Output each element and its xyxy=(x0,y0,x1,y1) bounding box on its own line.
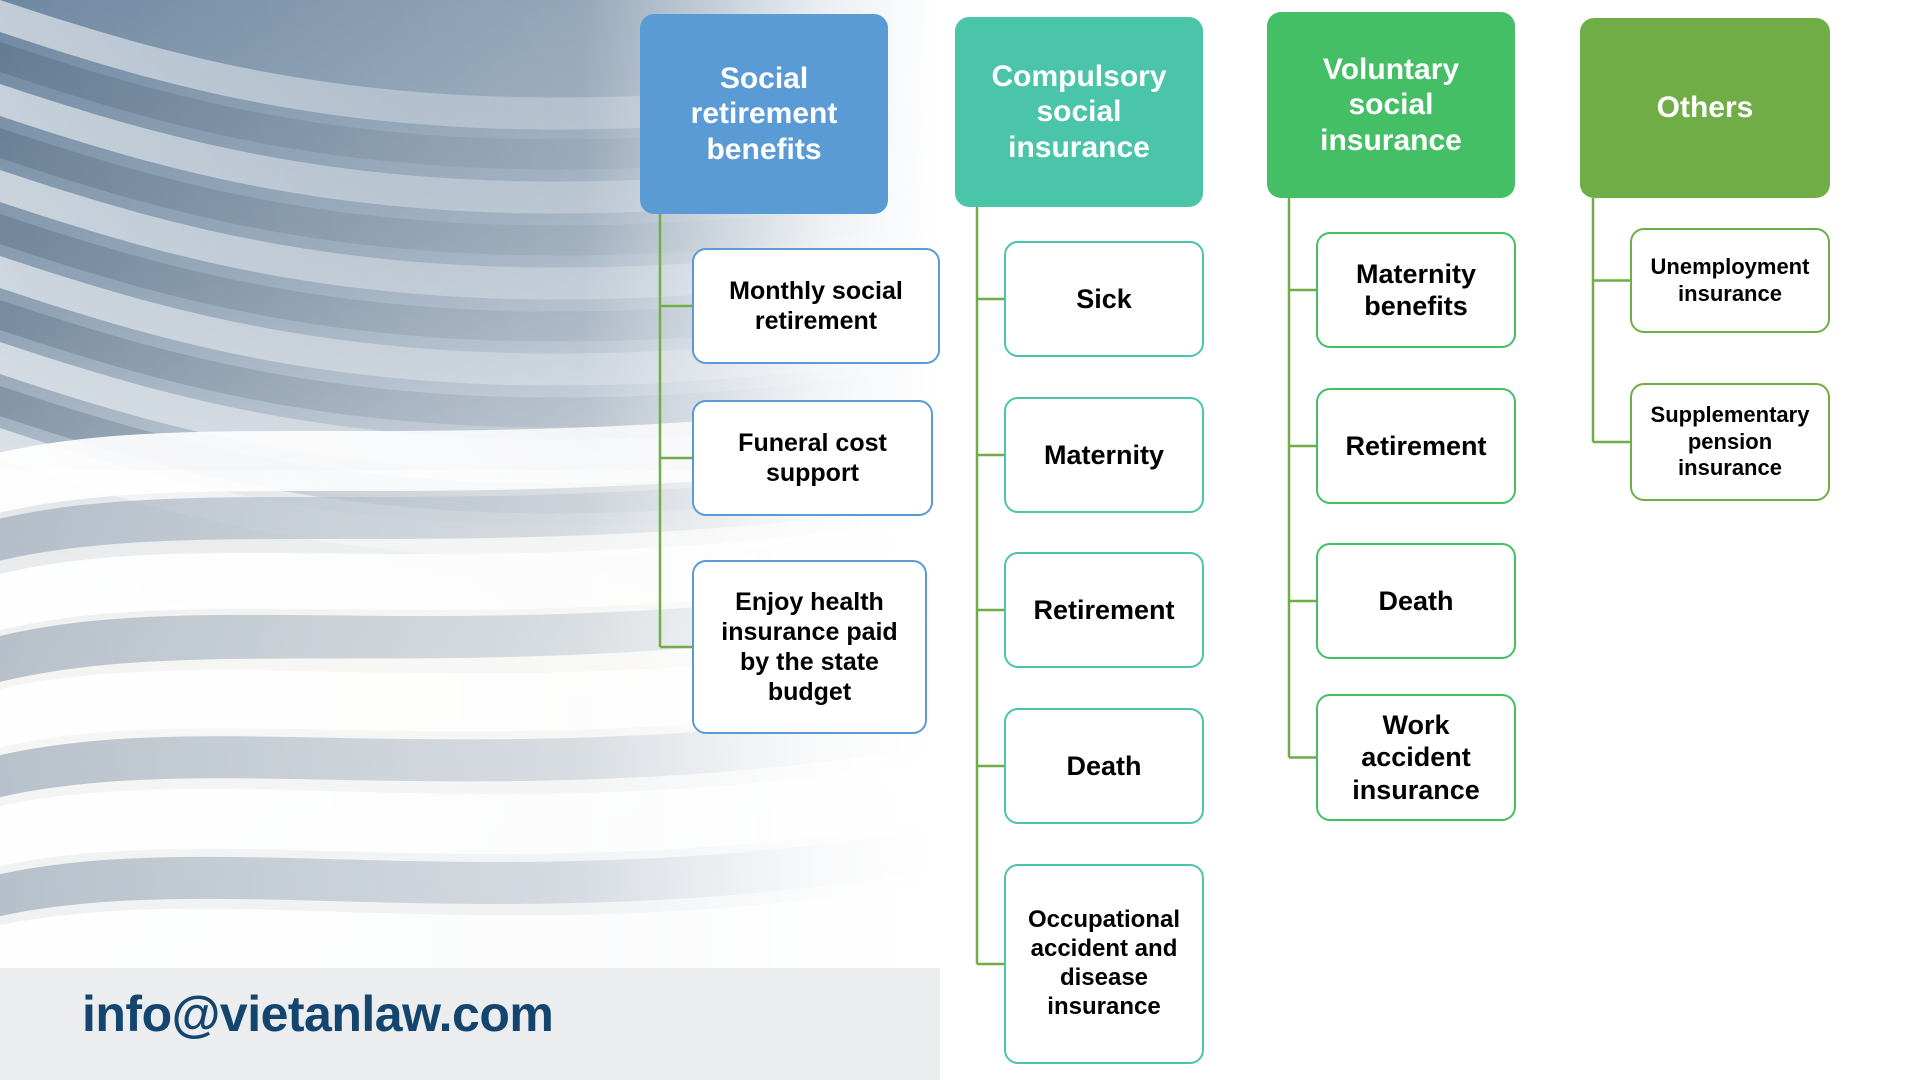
child-box-compulsory-social-insurance-0[interactable]: Sick xyxy=(1004,241,1204,357)
child-box-voluntary-social-insurance-2[interactable]: Death xyxy=(1316,543,1516,659)
contact-email: info@vietanlaw.com xyxy=(82,985,553,1043)
child-box-voluntary-social-insurance-0[interactable]: Maternity benefits xyxy=(1316,232,1516,348)
child-box-social-retirement-benefits-1[interactable]: Funeral cost support xyxy=(692,400,933,516)
child-box-compulsory-social-insurance-2[interactable]: Retirement xyxy=(1004,552,1204,668)
slide-canvas: info@vietanlaw.com Social retirement ben… xyxy=(0,0,1920,1080)
child-box-social-retirement-benefits-2[interactable]: Enjoy health insurance paid by the state… xyxy=(692,560,927,734)
child-box-compulsory-social-insurance-1[interactable]: Maternity xyxy=(1004,397,1204,513)
child-box-voluntary-social-insurance-1[interactable]: Retirement xyxy=(1316,388,1516,504)
child-box-compulsory-social-insurance-4[interactable]: Occupational accident and disease insura… xyxy=(1004,864,1204,1064)
header-box-voluntary-social-insurance[interactable]: Voluntary social insurance xyxy=(1267,12,1515,198)
child-box-social-retirement-benefits-0[interactable]: Monthly social retirement xyxy=(692,248,940,364)
header-box-compulsory-social-insurance[interactable]: Compulsory social insurance xyxy=(955,17,1203,207)
child-box-others-1[interactable]: Supplementary pension insurance xyxy=(1630,383,1830,501)
child-box-others-0[interactable]: Unemployment insurance xyxy=(1630,228,1830,333)
child-box-compulsory-social-insurance-3[interactable]: Death xyxy=(1004,708,1204,824)
header-box-social-retirement-benefits[interactable]: Social retirement benefits xyxy=(640,14,888,214)
header-box-others[interactable]: Others xyxy=(1580,18,1830,198)
child-box-voluntary-social-insurance-3[interactable]: Work accident insurance xyxy=(1316,694,1516,821)
